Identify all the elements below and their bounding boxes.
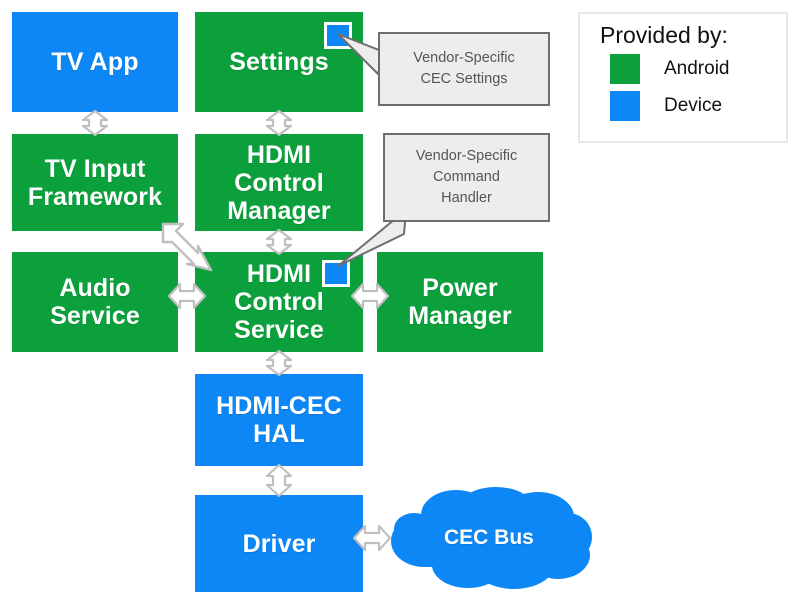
block-hdmi-control-service-line-1: HDMI [247,260,311,288]
block-tv-input-framework-line-2: Framework [28,183,162,211]
block-power-manager: Power Manager [377,252,543,352]
arrow-hdmi-control-service-hdmi-cec-hal [264,350,294,376]
vendor-badge-settings [324,22,352,49]
callout-command-handler-line-3: Handler [441,188,492,209]
arrow-driver-cec-bus [353,522,391,554]
callout-command-handler-line-1: Vendor-Specific [416,146,518,167]
block-tv-input-framework-line-1: TV Input [45,155,146,183]
block-hdmi-control-service: HDMI Control Service [195,252,363,352]
block-hdmi-control-manager-line-3: Manager [227,197,331,225]
block-audio-service-line-1: Audio [59,274,130,302]
legend-item-device: Device [610,91,786,121]
block-settings-line-1: Settings [229,48,328,76]
callout-cec-settings: Vendor-Specific CEC Settings [378,32,550,106]
block-cec-bus-label: CEC Bus [444,526,534,550]
block-cec-bus: CEC Bus [388,485,592,589]
legend-label-android: Android [664,58,730,80]
block-driver: Driver [195,495,363,592]
arrow-audio-service-hdmi-control-service [168,280,206,312]
legend-item-android: Android [610,54,786,84]
legend-label-device: Device [664,95,722,117]
block-hdmi-control-service-line-2: Control [234,288,324,316]
block-tv-app-line-1: TV App [51,48,138,76]
block-tv-input-framework: TV Input Framework [12,134,178,231]
callout-command-handler-line-2: Command [433,167,500,188]
callout-cec-settings-line-1: Vendor-Specific [413,48,515,69]
block-audio-service: Audio Service [12,252,178,352]
callout-cec-settings-line-2: CEC Settings [420,69,507,90]
legend-swatch-device [610,91,640,121]
callout-command-handler: Vendor-Specific Command Handler [383,133,550,222]
block-tv-app: TV App [12,12,178,112]
block-hdmi-cec-hal: HDMI-CEC HAL [195,374,363,466]
legend: Provided by: Android Device [578,12,788,143]
legend-swatch-android [610,54,640,84]
block-settings: Settings [195,12,363,112]
block-hdmi-cec-hal-line-2: HAL [253,420,305,448]
block-driver-line-1: Driver [243,530,316,558]
block-hdmi-control-manager-line-1: HDMI [247,141,311,169]
legend-title: Provided by: [600,22,786,48]
arrow-hdmi-control-manager-hdmi-control-service [264,229,294,255]
arrow-hdmi-cec-hal-driver [264,464,294,497]
arrow-settings-hdmi-control-manager [264,110,294,136]
block-hdmi-cec-hal-line-1: HDMI-CEC [216,392,342,420]
cec-architecture-diagram: TV App Settings TV Input Framework HDMI … [0,0,800,603]
block-power-manager-line-1: Power [422,274,498,302]
block-audio-service-line-2: Service [50,302,140,330]
block-hdmi-control-manager: HDMI Control Manager [195,134,363,231]
arrow-tv-app-tv-input-framework [80,110,110,136]
block-power-manager-line-2: Manager [408,302,512,330]
arrow-tv-input-framework-hdmi-control-service [158,220,216,274]
arrow-hdmi-control-service-power-manager [351,280,389,312]
vendor-badge-hdmi-control-service [322,260,350,287]
block-hdmi-control-manager-line-2: Control [234,169,324,197]
block-hdmi-control-service-line-3: Service [234,316,324,344]
